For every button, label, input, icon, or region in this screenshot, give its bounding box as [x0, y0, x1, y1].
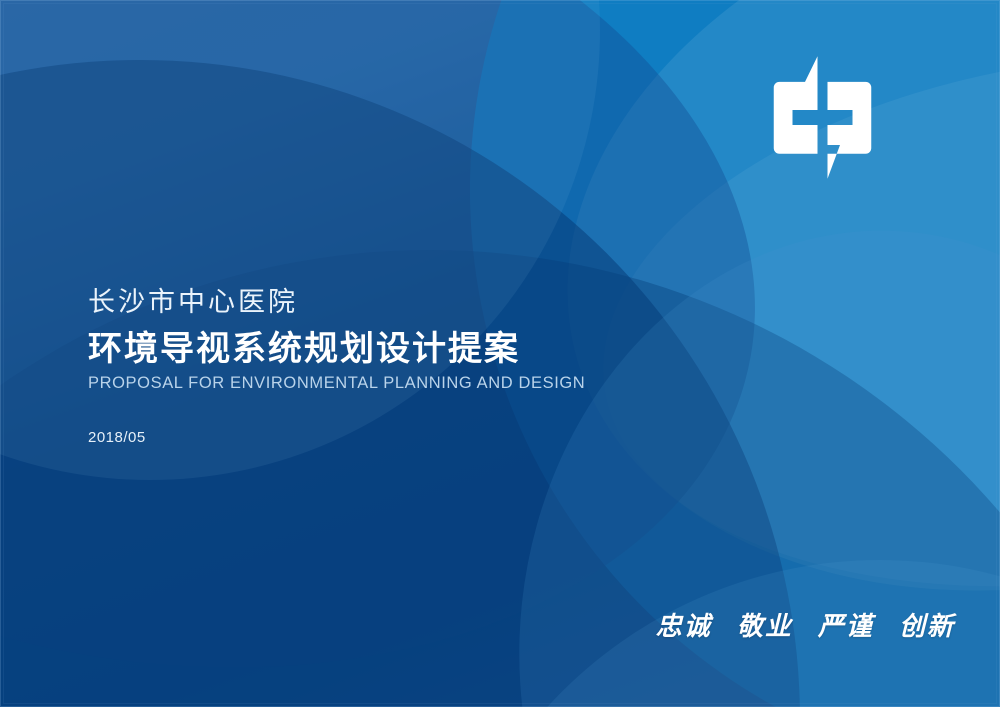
hospital-logo [760, 55, 885, 180]
title-block: 长沙市中心医院 环境导视系统规划设计提案 PROPOSAL FOR ENVIRO… [88, 286, 708, 446]
motto-word-3: 严谨 [818, 612, 874, 642]
organization-name: 长沙市中心医院 [88, 286, 708, 320]
motto-word-4: 创新 [899, 612, 955, 642]
motto-line: 忠诚 敬业 严谨 创新 [655, 606, 955, 643]
motto-word-1: 忠诚 [656, 612, 712, 642]
subtitle-english: PROPOSAL FOR ENVIRONMENTAL PLANNING AND … [88, 374, 708, 393]
page-title: 环境导视系统规划设计提案 [88, 329, 708, 370]
motto-word-2: 敬业 [737, 612, 793, 642]
date-label: 2018/05 [88, 429, 708, 446]
cover-slide: 长沙市中心医院 环境导视系统规划设计提案 PROPOSAL FOR ENVIRO… [0, 0, 1000, 707]
logo-mark-icon [760, 55, 885, 180]
